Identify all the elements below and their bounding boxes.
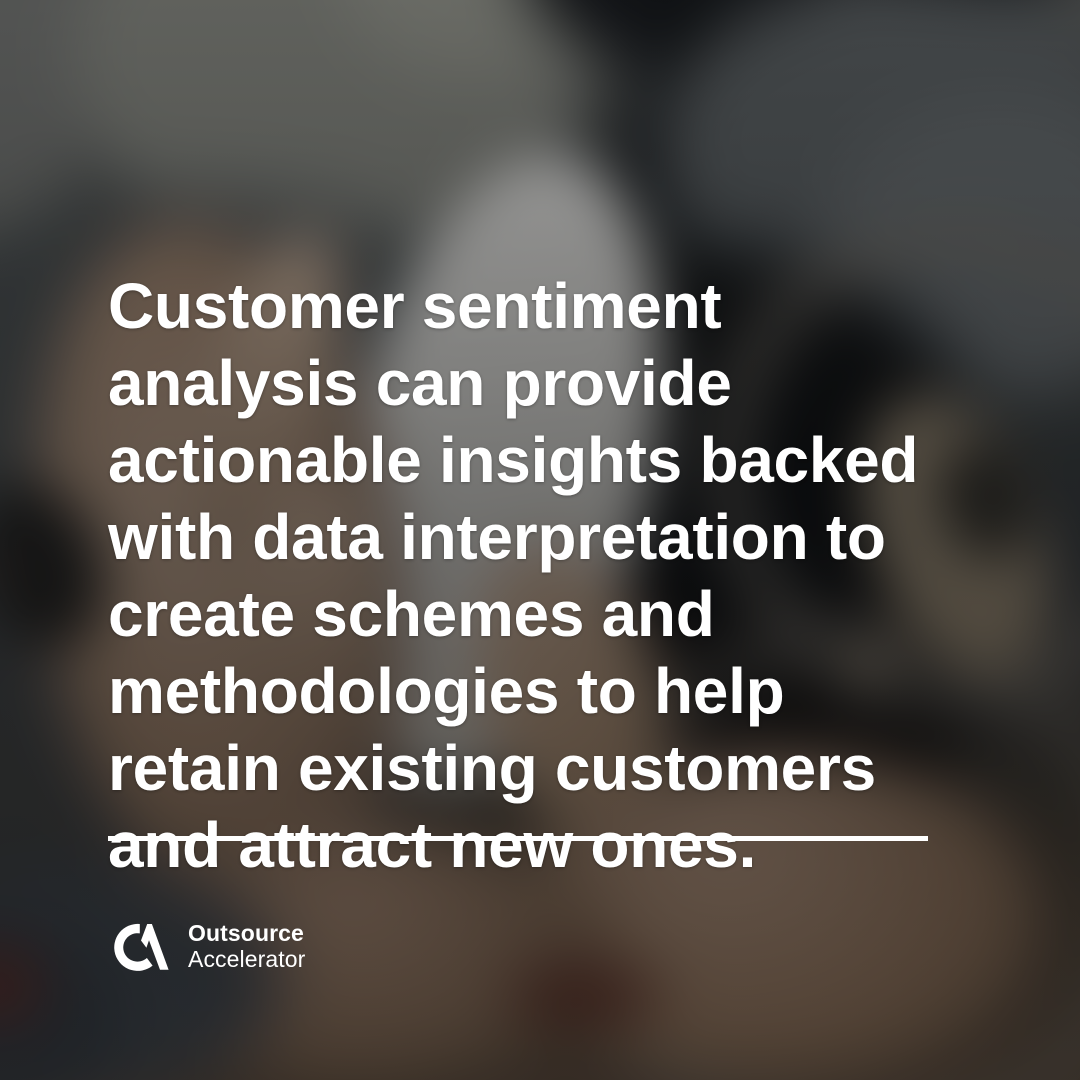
brand-name-line-1: Outsource [188, 921, 305, 947]
brand-logo: Outsource Accelerator [108, 918, 305, 976]
brand-logo-wordmark: Outsource Accelerator [188, 921, 305, 973]
overlay-content: Customer sentiment analysis can provide … [0, 0, 1080, 1080]
horizontal-divider [108, 836, 928, 841]
brand-name-line-2: Accelerator [188, 947, 305, 973]
headline-text: Customer sentiment analysis can provide … [108, 268, 968, 884]
social-graphic-canvas: Customer sentiment analysis can provide … [0, 0, 1080, 1080]
outsource-accelerator-logo-icon [108, 918, 170, 976]
